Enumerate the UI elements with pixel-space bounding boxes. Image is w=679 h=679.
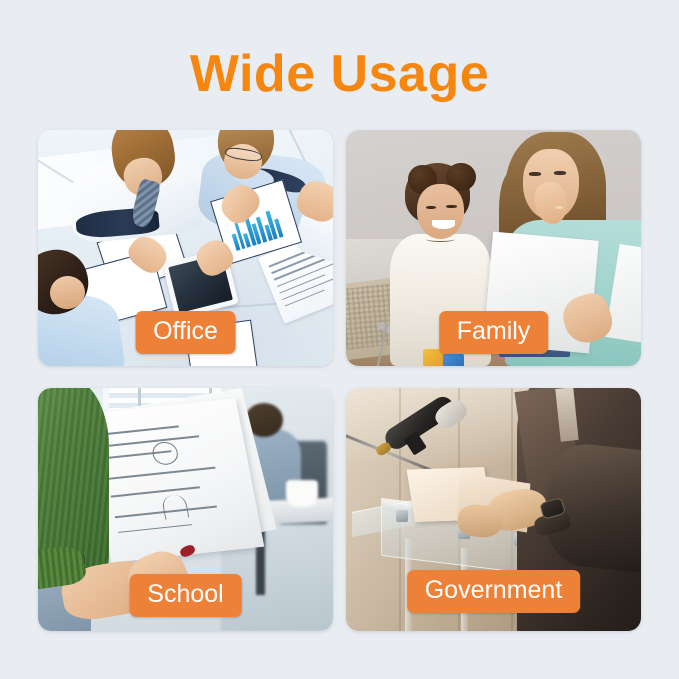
card-badge-school: School (129, 574, 241, 617)
usage-card-school[interactable]: School (38, 388, 333, 631)
usage-card-office[interactable]: Office (38, 130, 333, 366)
worksheet-diagram-circle (151, 441, 180, 466)
cup (286, 480, 318, 507)
desk-object (443, 354, 464, 366)
eye (529, 172, 541, 176)
lectern-clamp (396, 510, 408, 522)
usage-card-family[interactable]: Family (346, 130, 641, 366)
worksheet-front (83, 398, 265, 562)
eye (446, 205, 456, 208)
usage-scenario-grid: Office (38, 130, 641, 631)
page-title: Wide Usage (0, 48, 679, 100)
worksheet-diagram-compass (161, 494, 189, 520)
wide-usage-poster: Wide Usage (0, 0, 679, 679)
person-face (417, 184, 464, 238)
eye (554, 171, 566, 175)
card-badge-family: Family (439, 311, 549, 354)
eye (426, 206, 436, 209)
usage-card-government[interactable]: Government (346, 388, 641, 631)
card-badge-office: Office (135, 311, 236, 354)
card-badge-government: Government (407, 570, 581, 613)
necklace (426, 236, 456, 242)
